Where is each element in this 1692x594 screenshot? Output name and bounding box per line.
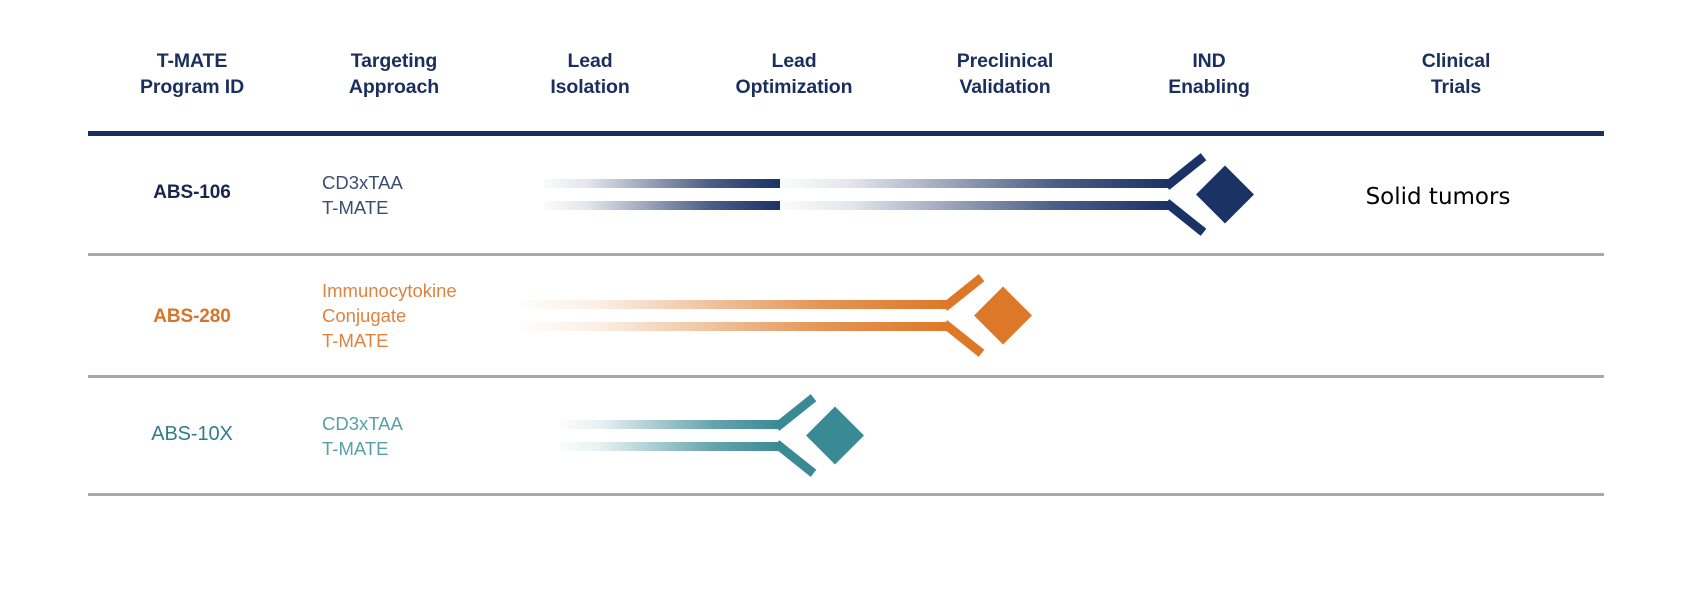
table-row: ABS-106 CD3xTAA T-MATE Solid tumors bbox=[88, 136, 1604, 253]
program-id-label: ABS-280 bbox=[88, 306, 296, 328]
table-row: ABS-10X CD3xTAA T-MATE bbox=[88, 378, 1604, 493]
column-header-ind-enabling: IND Enabling bbox=[1110, 48, 1308, 100]
column-header-program-id: T-MATE Program ID bbox=[88, 48, 296, 100]
targeting-approach-label: CD3xTAA T-MATE bbox=[296, 411, 492, 461]
column-header-lead-isolation: Lead Isolation bbox=[492, 48, 688, 100]
program-id-label: ABS-106 bbox=[88, 182, 296, 204]
column-header-clinical-trials: Clinical Trials bbox=[1308, 48, 1604, 100]
row-divider-3 bbox=[88, 493, 1604, 496]
column-header-row: T-MATE Program ID Targeting Approach Lea… bbox=[88, 48, 1604, 122]
program-id-label: ABS-10X bbox=[88, 423, 296, 446]
column-header-lead-optimization: Lead Optimization bbox=[688, 48, 900, 100]
targeting-approach-label: Immunocytokine Conjugate T-MATE bbox=[296, 278, 492, 353]
indication-label: Solid tumors bbox=[1288, 184, 1588, 210]
column-header-preclinical-validation: Preclinical Validation bbox=[900, 48, 1110, 100]
pipeline-chart: T-MATE Program ID Targeting Approach Lea… bbox=[0, 0, 1692, 594]
column-header-targeting-approach: Targeting Approach bbox=[296, 48, 492, 100]
table-row: ABS-280 Immunocytokine Conjugate T-MATE bbox=[88, 256, 1604, 375]
targeting-approach-label: CD3xTAA T-MATE bbox=[296, 170, 492, 220]
